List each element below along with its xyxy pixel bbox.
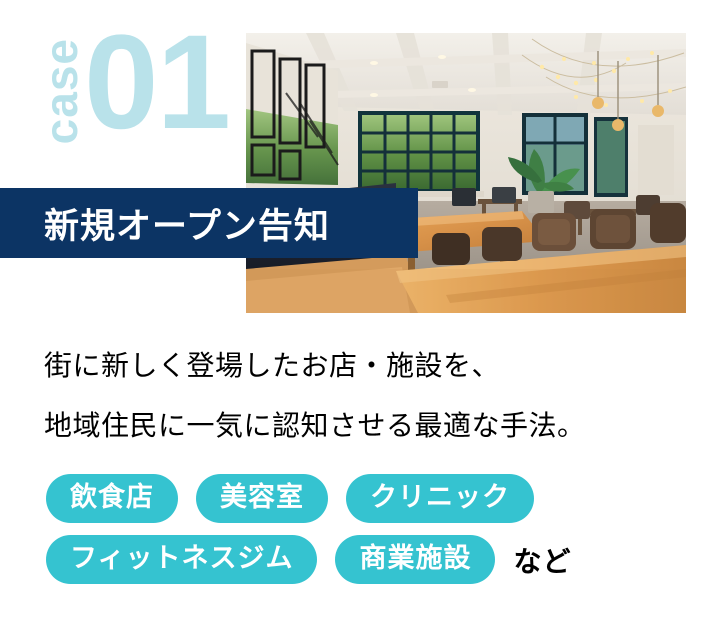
badge-label: 新規オープン告知: [44, 198, 330, 249]
case-number-block: case 01: [36, 30, 236, 170]
tag-row-1: 飲食店 美容室 クリニック: [46, 474, 706, 523]
description-line-1: 街に新しく登場したお店・施設を、: [44, 336, 684, 396]
tag-suffix: など: [513, 540, 571, 580]
tag-pill[interactable]: クリニック: [346, 474, 534, 523]
case-card: case 01: [0, 0, 721, 637]
tag-pill[interactable]: フィットネスジム: [46, 535, 317, 584]
interior-photo: 新規オープン告知: [246, 33, 686, 313]
description-block: 街に新しく登場したお店・施設を、 地域住民に一気に認知させる最適な手法。: [44, 336, 684, 456]
tag-pill[interactable]: 飲食店: [46, 474, 178, 523]
tag-pill[interactable]: 美容室: [196, 474, 328, 523]
tag-row-2: フィットネスジム 商業施設 など: [46, 535, 706, 584]
tag-list: 飲食店 美容室 クリニック フィットネスジム 商業施設 など: [46, 474, 706, 596]
badge-bar: 新規オープン告知: [0, 188, 418, 258]
tag-pill[interactable]: 商業施設: [335, 535, 495, 584]
case-number: 01: [84, 16, 229, 150]
case-label: case: [38, 38, 84, 144]
interior-photo-illustration: [246, 33, 686, 313]
description-line-2: 地域住民に一気に認知させる最適な手法。: [44, 396, 684, 456]
